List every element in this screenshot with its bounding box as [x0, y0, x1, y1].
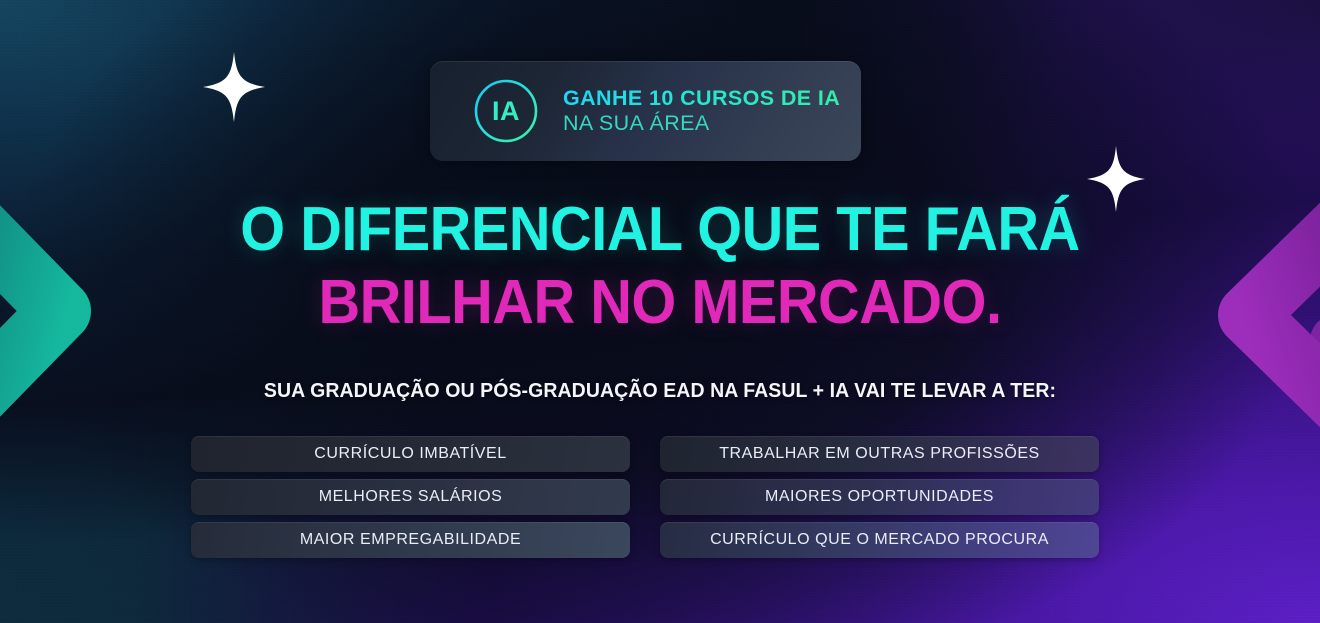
ia-circle-icon: IA: [473, 78, 539, 144]
benefit-pill[interactable]: MAIOR EMPREGABILIDADE: [191, 522, 630, 558]
benefits-column-right: TRABALHAR EM OUTRAS PROFISSÕES MAIORES O…: [660, 436, 1099, 558]
banner-content: IA GANHE 10 CURSOS DE IA NA SUA ÁREA O D…: [0, 0, 1320, 623]
badge-text-block: GANHE 10 CURSOS DE IA NA SUA ÁREA: [563, 86, 840, 137]
page-title: O DIFERENCIAL QUE TE FARÁ BRILHAR NO MER…: [46, 197, 1274, 337]
headline-line-1: O DIFERENCIAL QUE TE FARÁ: [46, 197, 1274, 264]
ia-label: IA: [473, 78, 539, 144]
ai-courses-badge: IA GANHE 10 CURSOS DE IA NA SUA ÁREA: [430, 61, 861, 161]
benefit-pill[interactable]: TRABALHAR EM OUTRAS PROFISSÕES: [660, 436, 1099, 472]
benefits-list: CURRÍCULO IMBATÍVEL MELHORES SALÁRIOS MA…: [191, 436, 1129, 558]
benefits-column-left: CURRÍCULO IMBATÍVEL MELHORES SALÁRIOS MA…: [191, 436, 630, 558]
benefit-pill[interactable]: CURRÍCULO QUE O MERCADO PROCURA: [660, 522, 1099, 558]
benefit-pill[interactable]: MAIORES OPORTUNIDADES: [660, 479, 1099, 515]
headline-line-2: BRILHAR NO MERCADO.: [46, 270, 1274, 337]
subheadline: SUA GRADUAÇÃO OU PÓS-GRADUAÇÃO EAD NA FA…: [33, 379, 1287, 403]
benefit-pill[interactable]: CURRÍCULO IMBATÍVEL: [191, 436, 630, 472]
benefit-pill[interactable]: MELHORES SALÁRIOS: [191, 479, 630, 515]
promo-banner: IA GANHE 10 CURSOS DE IA NA SUA ÁREA O D…: [0, 0, 1320, 623]
badge-subline: NA SUA ÁREA: [563, 111, 840, 137]
badge-headline: GANHE 10 CURSOS DE IA: [563, 86, 840, 110]
